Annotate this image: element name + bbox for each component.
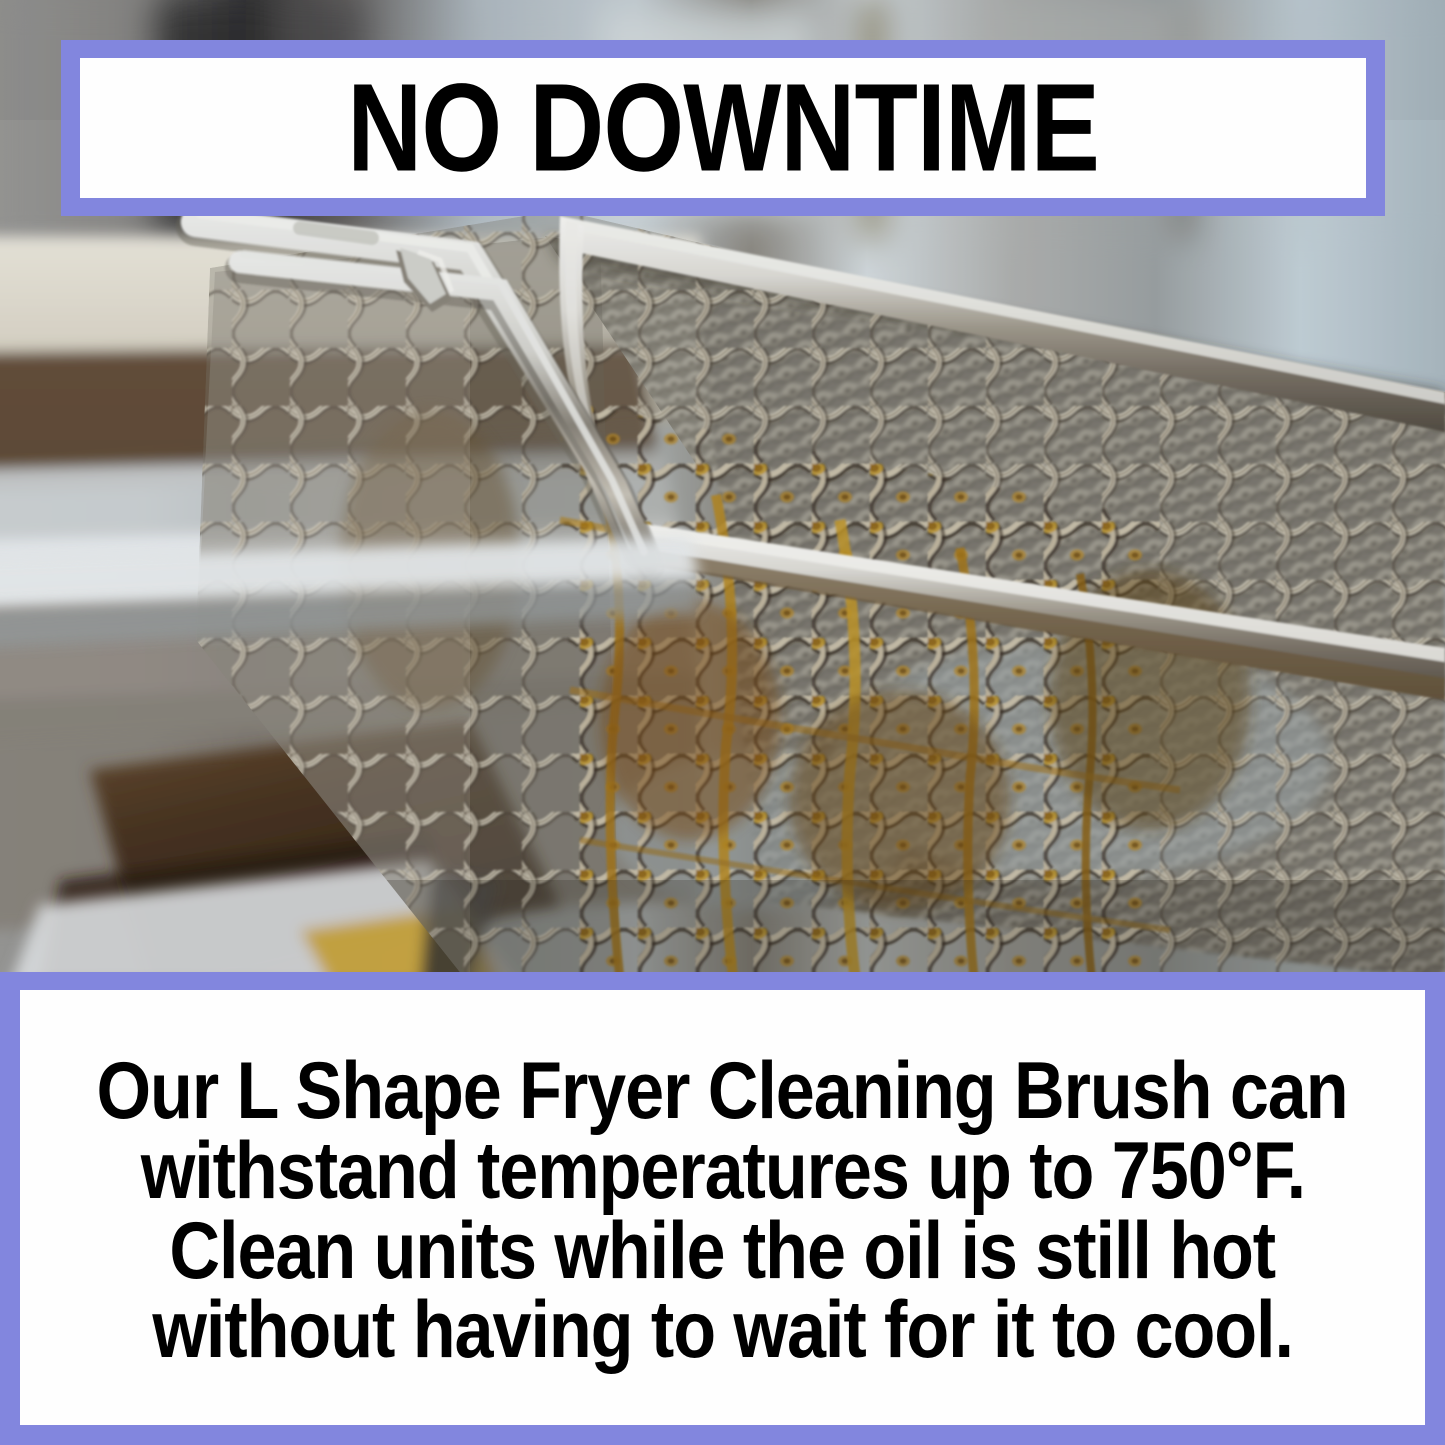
caption-banner: Our L Shape Fryer Cleaning Brush can wit… xyxy=(0,972,1445,1445)
caption-line-3: Clean units while the oil is still hot xyxy=(170,1209,1276,1292)
caption-line-4: without having to wait for it to cool. xyxy=(152,1288,1293,1371)
header-panel: NO DOWNTIME xyxy=(80,58,1366,198)
caption-line-1: Our L Shape Fryer Cleaning Brush can xyxy=(97,1050,1348,1133)
product-feature-poster: NO DOWNTIME Our L Shape Fryer Cleaning B… xyxy=(0,0,1445,1445)
header-banner: NO DOWNTIME xyxy=(61,40,1385,216)
caption-panel: Our L Shape Fryer Cleaning Brush can wit… xyxy=(20,990,1425,1425)
page-title: NO DOWNTIME xyxy=(347,65,1099,190)
caption-line-2: withstand temperatures up to 750°F. xyxy=(140,1129,1304,1212)
